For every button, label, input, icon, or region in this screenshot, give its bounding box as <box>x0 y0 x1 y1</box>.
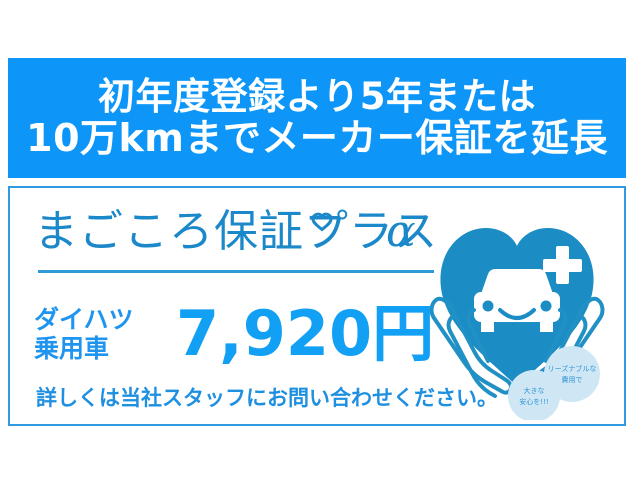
bubble-reasonable-cost <box>544 346 600 402</box>
panel-left-column: まごころ保証プラス α ダイハツ 乗用車 7,920円 詳しくは当社スタッフにお… <box>20 188 440 424</box>
vehicle-class-line-2: 乗用車 <box>34 334 162 364</box>
bubble-peace-line-1: 大きな <box>524 386 545 395</box>
magokoro-logo: まごころ保証プラス α <box>34 200 434 262</box>
logo-alpha-symbol: α <box>386 206 416 257</box>
advertisement-root: 初年度登録より5年または 10万kmまでメーカー保証を延長 まごころ保証プラス … <box>0 0 640 480</box>
bubble-peace-line-2: 安心を!!! <box>519 397 548 406</box>
logo-divider <box>38 270 434 273</box>
hands-heart-car-illustration: 大きな 安心を!!! リーズナブルな 費用で <box>428 190 606 420</box>
price-row: ダイハツ 乗用車 7,920円 <box>34 292 444 376</box>
header-line-1: 初年度登録より5年または <box>98 76 536 117</box>
bubble-cost-line-1: リーズナブルな <box>548 364 597 373</box>
price-amount: 7,920円 <box>176 303 434 365</box>
bubble-cost-line-2: 費用で <box>562 375 583 384</box>
vehicle-class-line-1: ダイハツ <box>34 305 162 335</box>
header-banner: 初年度登録より5年または 10万kmまでメーカー保証を延長 <box>8 58 626 178</box>
header-line-2: 10万kmまでメーカー保証を延長 <box>26 117 608 160</box>
logo-svg: まごころ保証プラス α <box>34 200 434 262</box>
vehicle-class-label: ダイハツ 乗用車 <box>34 305 162 364</box>
logo-text: まごころ保証プラス <box>34 206 434 257</box>
illustration-svg: 大きな 安心を!!! リーズナブルな 費用で <box>428 190 606 420</box>
warranty-panel: まごころ保証プラス α ダイハツ 乗用車 7,920円 詳しくは当社スタッフにお… <box>8 186 626 426</box>
